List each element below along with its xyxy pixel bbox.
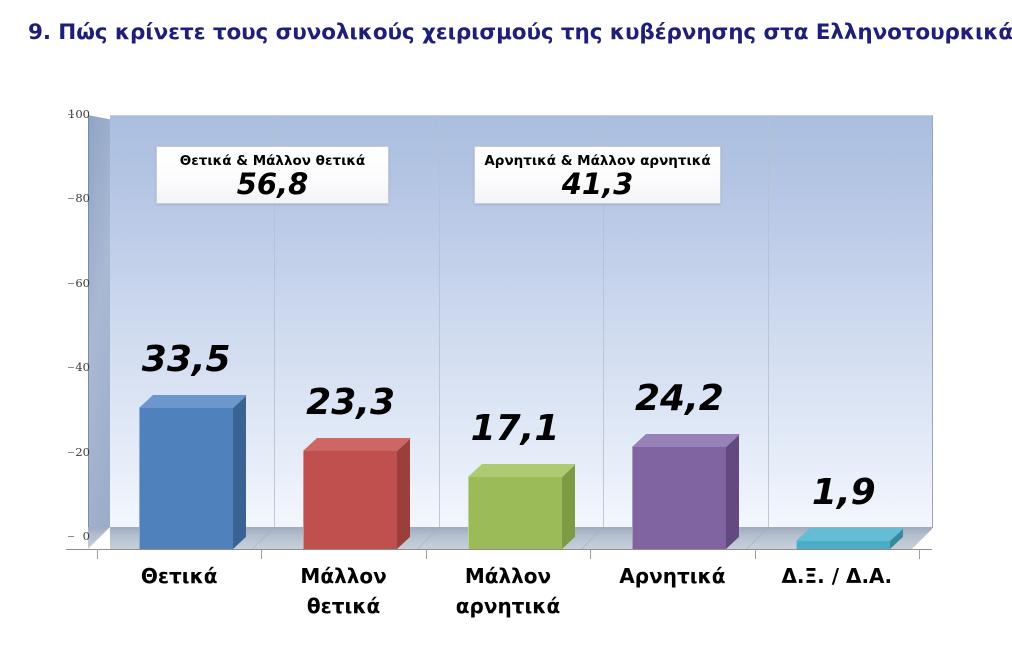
bar-value-label: 23,3 [268, 382, 432, 423]
x-axis-tick [919, 549, 920, 559]
x-axis-tick [261, 549, 262, 559]
category-label-3: Μάλλοναρνητικά [426, 561, 590, 621]
bar-side-face [233, 396, 246, 549]
bar-side-face [562, 465, 575, 549]
bar-top-face [303, 438, 411, 451]
x-axis-tick [97, 549, 98, 559]
category-separator-line [768, 115, 769, 527]
category-label-2: Μάλλονθετικά [261, 561, 425, 621]
bar-front-face [796, 541, 890, 549]
bar-4[interactable] [632, 447, 726, 549]
bar-value-label: 33,5 [104, 339, 268, 380]
callout-positive-title: Θετικά & Μάλλον θετικά [157, 147, 388, 169]
bar-top-face [796, 528, 904, 541]
bar-top-face [139, 395, 247, 408]
category-separator-line [439, 115, 440, 527]
bar-top-face [632, 434, 740, 447]
bar-front-face [139, 408, 233, 549]
category-label-line: Θετικά [97, 561, 261, 591]
bar-5[interactable] [796, 541, 890, 549]
bar-front-face [632, 447, 726, 549]
x-axis-tick [590, 549, 591, 559]
x-axis-tick [755, 549, 756, 559]
callout-positive-value: 56,8 [157, 169, 388, 200]
bar-value-label: 24,2 [597, 378, 761, 419]
bar-1[interactable] [139, 408, 233, 549]
bar-top-face [468, 464, 576, 477]
category-label-4: Αρνητικά [590, 561, 754, 591]
bar-front-face [303, 451, 397, 549]
category-label-1: Θετικά [97, 561, 261, 591]
callout-negative-title: Αρνητικά & Μάλλον αρνητικά [475, 147, 720, 169]
y-axis-tick-mark [68, 452, 74, 453]
y-axis-tick-mark [68, 367, 74, 368]
category-label-line: αρνητικά [426, 591, 590, 621]
x-axis-tick [426, 549, 427, 559]
bar-value-label: 1,9 [762, 472, 926, 513]
callout-positive: Θετικά & Μάλλον θετικά 56,8 [156, 146, 389, 204]
chart-canvas: 020406080100 33,523,317,124,21,9 ΘετικάΜ… [0, 62, 1012, 642]
axis-baseline [66, 549, 932, 550]
y-axis-tick-mark [68, 283, 74, 284]
y-axis-tick-mark [68, 198, 74, 199]
bar-2[interactable] [303, 451, 397, 549]
bar-3[interactable] [468, 477, 562, 549]
category-label-line: Δ.Ξ. / Δ.Α. [755, 561, 919, 591]
category-label-line: Μάλλον [426, 561, 590, 591]
y-axis-tick-mark [68, 114, 74, 115]
bar-side-face [726, 435, 739, 549]
callout-negative: Αρνητικά & Μάλλον αρνητικά 41,3 [474, 146, 721, 204]
category-label-line: θετικά [261, 591, 425, 621]
bar-side-face [397, 439, 410, 549]
bar-front-face [468, 477, 562, 549]
category-label-5: Δ.Ξ. / Δ.Α. [755, 561, 919, 591]
y-axis-tick-mark [68, 536, 74, 537]
category-label-line: Μάλλον [261, 561, 425, 591]
bar-value-label: 17,1 [433, 408, 597, 449]
callout-negative-value: 41,3 [475, 169, 720, 200]
category-label-line: Αρνητικά [590, 561, 754, 591]
plot-left-wall [88, 115, 111, 531]
y-axis: 020406080100 [28, 62, 90, 642]
page-title: 9. Πώς κρίνετε τους συνολικούς χειρισμού… [28, 20, 988, 45]
